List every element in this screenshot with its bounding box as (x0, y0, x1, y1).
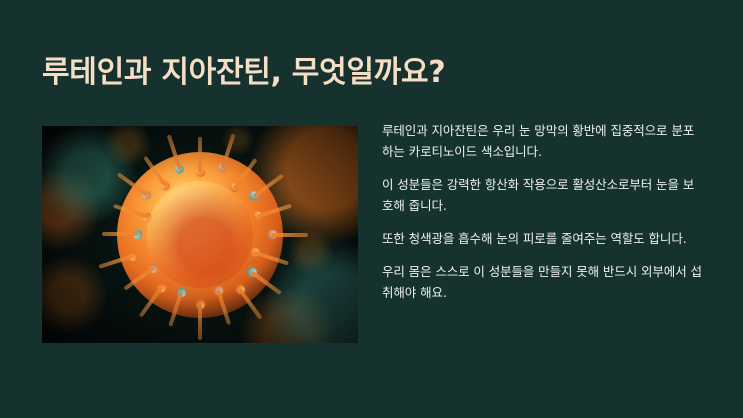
body-text-column: 루테인과 지아잔틴은 우리 눈 망막의 황반에 집중적으로 분포하는 카로티노이… (382, 120, 704, 303)
slide: 루테인과 지아잔틴, 무엇일까요? 루테인과 지아 (0, 0, 743, 418)
figure-vignette (42, 126, 358, 343)
page-title: 루테인과 지아잔틴, 무엇일까요? (42, 54, 445, 92)
body-paragraph: 이 성분들은 강력한 항산화 작용으로 활성산소로부터 눈을 보호해 줍니다. (382, 174, 704, 216)
virus-illustration (42, 126, 358, 343)
body-paragraph: 우리 몸은 스스로 이 성분들을 만들지 못해 반드시 외부에서 섭취해야 해요… (382, 261, 704, 303)
body-paragraph: 루테인과 지아잔틴은 우리 눈 망막의 황반에 집중적으로 분포하는 카로티노이… (382, 120, 704, 162)
body-paragraph: 또한 청색광을 흡수해 눈의 피로를 줄여주는 역할도 합니다. (382, 228, 704, 249)
